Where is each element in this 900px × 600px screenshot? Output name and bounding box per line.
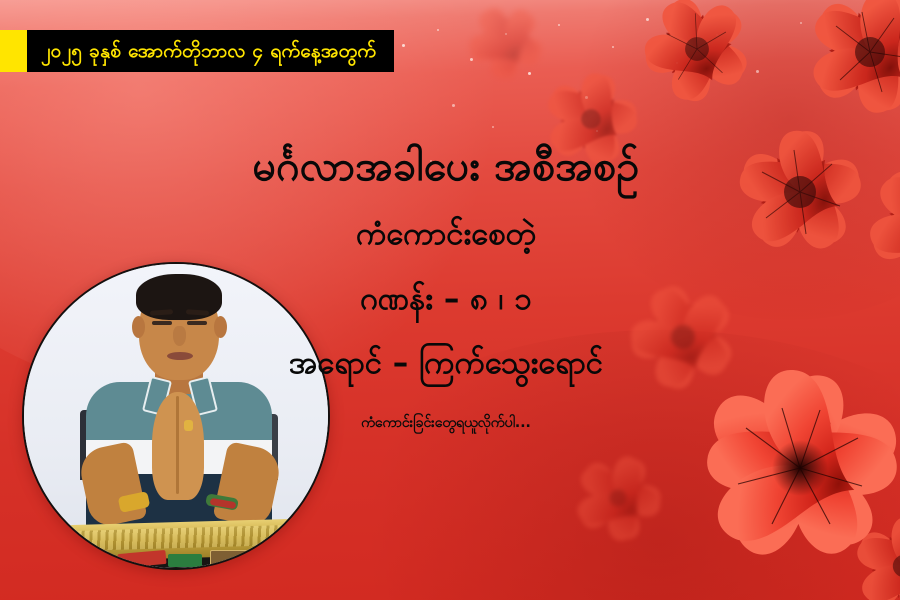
sparkle-dot xyxy=(528,72,531,75)
flower-haze-top xyxy=(446,0,566,102)
sparkle-dot xyxy=(470,58,473,61)
sparkle-dot xyxy=(585,96,588,99)
date-banner: ၂၀၂၅ ခုနှစ် အောက်တိုဘာလ ၄ ရက်နေ့အတွက် xyxy=(0,30,394,72)
portrait-ear-left xyxy=(132,316,145,338)
sparkle-dot xyxy=(756,70,759,73)
flower-right-edge xyxy=(832,128,900,318)
sparkle-dot xyxy=(612,46,614,48)
poster-footnote: ကံကောင်းခြင်းတွေရယူလိုက်ပါ... xyxy=(166,413,726,434)
lucky-line: ကံကောင်းစေတဲ့ xyxy=(166,214,726,254)
sparkle-dot xyxy=(596,130,598,132)
sparkle-dot xyxy=(646,18,649,21)
sparkle-dot xyxy=(402,44,405,47)
sparkle-dot xyxy=(505,33,507,35)
sparkle-dot xyxy=(558,24,560,26)
date-banner-swatch xyxy=(0,30,27,72)
poster-text-block: မင်္ဂလာအခါပေး အစီအစဉ် ကံကောင်းစေတဲ့ ဂဏန်… xyxy=(166,140,726,434)
sparkle-dot xyxy=(437,29,439,31)
sparkle-dot xyxy=(492,126,494,128)
sparkle-dot xyxy=(800,22,802,24)
date-banner-text: ၂၀၂၅ ခုနှစ် အောက်တိုဘာလ ၄ ရက်နေ့အတွက် xyxy=(41,42,376,61)
flower-top-right-a xyxy=(770,0,900,152)
sparkle-dot xyxy=(716,34,718,36)
poster-headline: မင်္ဂလာအခါပေး အစီအစဉ် xyxy=(166,140,726,192)
lucky-number-line: ဂဏန်း – ၈ ၊ ၁ xyxy=(166,279,726,319)
date-banner-bar: ၂၀၂၅ ခုနှစ် အောက်တိုဘာလ ၄ ရက်နေ့အတွက် xyxy=(27,30,394,72)
portrait-desk-item-gold xyxy=(210,550,250,568)
poster-canvas: ၂၀၂၅ ခုနှစ် အောက်တိုဘာလ ၄ ရက်နေ့အတွက် xyxy=(0,0,900,600)
flower-top-right-b xyxy=(612,0,782,134)
flower-right-mid xyxy=(700,92,900,292)
portrait-desk-item-green xyxy=(168,554,202,567)
sparkle-dot xyxy=(676,62,678,64)
sparkle-dot xyxy=(452,104,455,107)
flower-bottom-right-corner xyxy=(824,486,900,600)
flower-soft-lower xyxy=(548,428,688,568)
lucky-color-line: အရောင် – ကြက်သွေးရောင် xyxy=(166,343,726,383)
